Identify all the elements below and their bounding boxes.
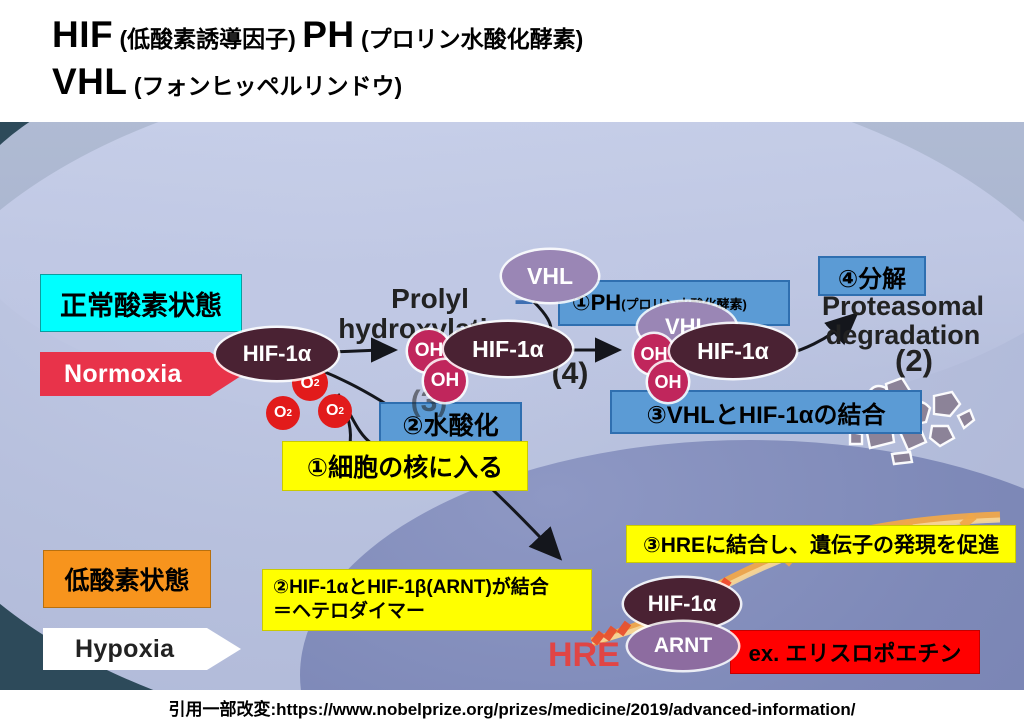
oh-group: OH [648,362,688,402]
normoxia-banner-label: Normoxia [64,360,182,389]
epo-example-box: ex. エリスロポエチン [730,630,980,674]
o2-subscript: 2 [286,408,292,419]
title-line-2: VHL (フォンヒッペルリンドウ) [52,61,1024,104]
hif1a-label: HIF-1α [697,338,769,365]
hre-binding-box: ③HREに結合し、遺伝子の発現を促進 [626,525,1016,563]
hre-binding-box-label: ③HREに結合し、遺伝子の発現を促進 [643,529,999,559]
hypoxia-banner-label: Hypoxia [75,635,174,664]
hif1a-label: HIF-1α [648,591,717,617]
o2-label: O [326,402,338,420]
title-line-1: HIF (低酸素誘導因子) PH (プロリン水酸化酵素) [52,14,1024,57]
nucleus-entry-box: ①細胞の核に入る [282,441,528,491]
arnt-protein: ARNT [628,622,738,670]
vhl-binding-box-label: ③VHLとHIF-1αの結合 [646,395,885,430]
normoxia-banner: Normoxia [40,352,244,396]
epo-example-label: ex. エリスロポエチン [749,636,962,668]
degradation-box-label: ④分解 [838,259,906,294]
normoxia-badge: 正常酸素状態 [40,274,242,332]
title-ph: PH [302,14,354,55]
proteasomal-degradation-label: Proteasomal degradation [790,292,1016,350]
citation-text: 引用一部改変:https://www.nobelprize.org/prizes… [168,695,855,720]
diagram-canvas: 正常酸素状態 Normoxia 低酸素状態 Hypoxia Prolyl hyd… [0,122,1024,690]
vhl-protein: VHL [502,250,598,302]
hypoxia-banner: Hypoxia [43,628,241,670]
oh-label: OH [655,372,682,393]
o2-molecule: O2 [266,396,300,430]
hif1a-protein-hydroxylated: HIF-1α [444,322,572,376]
o2-subscript: 2 [314,377,320,389]
title-hif-ja: (低酸素誘導因子) [113,26,302,52]
nucleus-entry-box-label: ①細胞の核に入る [307,448,503,484]
title-ph-ja: (プロリン水酸化酵素) [355,26,584,52]
oh-label: OH [415,340,444,362]
heterodimer-box: ②HIF-1αとHIF-1β(ARNT)が結合 ＝ヘテロダイマー [262,569,592,631]
o2-molecule: O2 [318,394,352,428]
hypoxia-badge-label: 低酸素状態 [64,561,189,597]
heterodimer-box-line2: ＝ヘテロダイマー [273,600,425,624]
title-vhl: VHL [52,61,128,102]
o2-subscript: 2 [338,406,344,417]
hif1a-label: HIF-1α [472,336,544,363]
o2-label: O [274,404,286,422]
hif1a-protein-complexed: HIF-1α [670,324,796,378]
heterodimer-box-line1: ②HIF-1αとHIF-1β(ARNT)が結合 [273,576,549,600]
normoxia-badge-label: 正常酸素状態 [60,284,222,323]
hif1a-label: HIF-1α [243,341,312,367]
hif1a-protein: HIF-1α [216,328,338,380]
hypoxia-badge: 低酸素状態 [43,550,211,608]
title-vhl-ja: (フォンヒッペルリンドウ) [128,73,403,99]
citation-footer: 引用一部改変:https://www.nobelprize.org/prizes… [0,690,1024,724]
degradation-box: ④分解 [818,256,926,296]
arnt-label: ARNT [654,634,712,658]
reference-2: (2) [884,344,944,377]
page-title: HIF (低酸素誘導因子) PH (プロリン水酸化酵素) VHL (フォンヒッペ… [0,0,1024,120]
slide-page: HIF (低酸素誘導因子) PH (プロリン水酸化酵素) VHL (フォンヒッペ… [0,0,1024,724]
vhl-label: VHL [527,263,573,290]
oh-label: OH [431,370,460,392]
title-hif: HIF [52,14,113,55]
